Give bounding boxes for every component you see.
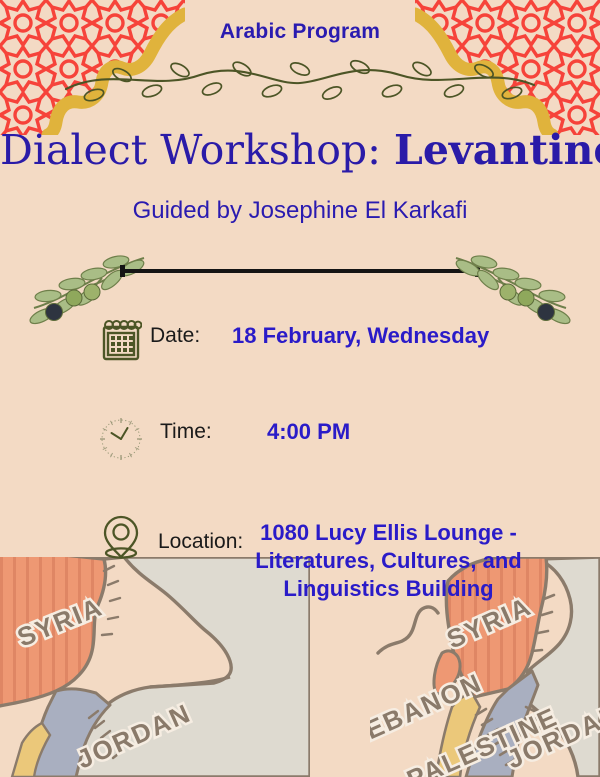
page-title-bold: Levantine bbox=[394, 126, 600, 174]
clock-icon bbox=[92, 414, 150, 464]
calendar-icon bbox=[92, 318, 150, 362]
detail-row-date: Date: 18 February, Wednesday bbox=[0, 318, 600, 362]
detail-value-date: 18 February, Wednesday bbox=[232, 318, 489, 349]
detail-row-location: Location: 1080 Lucy Ellis Lounge -Litera… bbox=[0, 512, 600, 603]
detail-label-date: Date: bbox=[150, 318, 232, 348]
vine-divider-icon bbox=[60, 55, 540, 105]
page-title: Dialect Workshop: Levantine bbox=[0, 126, 600, 174]
page-kicker: Arabic Program bbox=[0, 20, 600, 44]
page-title-regular: Dialect Workshop: bbox=[0, 126, 394, 174]
location-pin-icon bbox=[92, 512, 150, 560]
detail-label-time: Time: bbox=[150, 414, 232, 444]
event-details: Date: 18 February, Wednesday bbox=[0, 318, 600, 603]
detail-value-time: 4:00 PM bbox=[232, 414, 350, 445]
detail-value-location: 1080 Lucy Ellis Lounge -Literatures, Cul… bbox=[243, 512, 522, 603]
divider-rule bbox=[120, 264, 480, 278]
page-subtitle: Guided by Josephine El Karkafi bbox=[0, 197, 600, 225]
detail-row-time: Time: 4:00 PM bbox=[0, 414, 600, 464]
poster-canvas: Arabic Program bbox=[0, 0, 600, 777]
detail-label-location: Location: bbox=[150, 512, 243, 554]
